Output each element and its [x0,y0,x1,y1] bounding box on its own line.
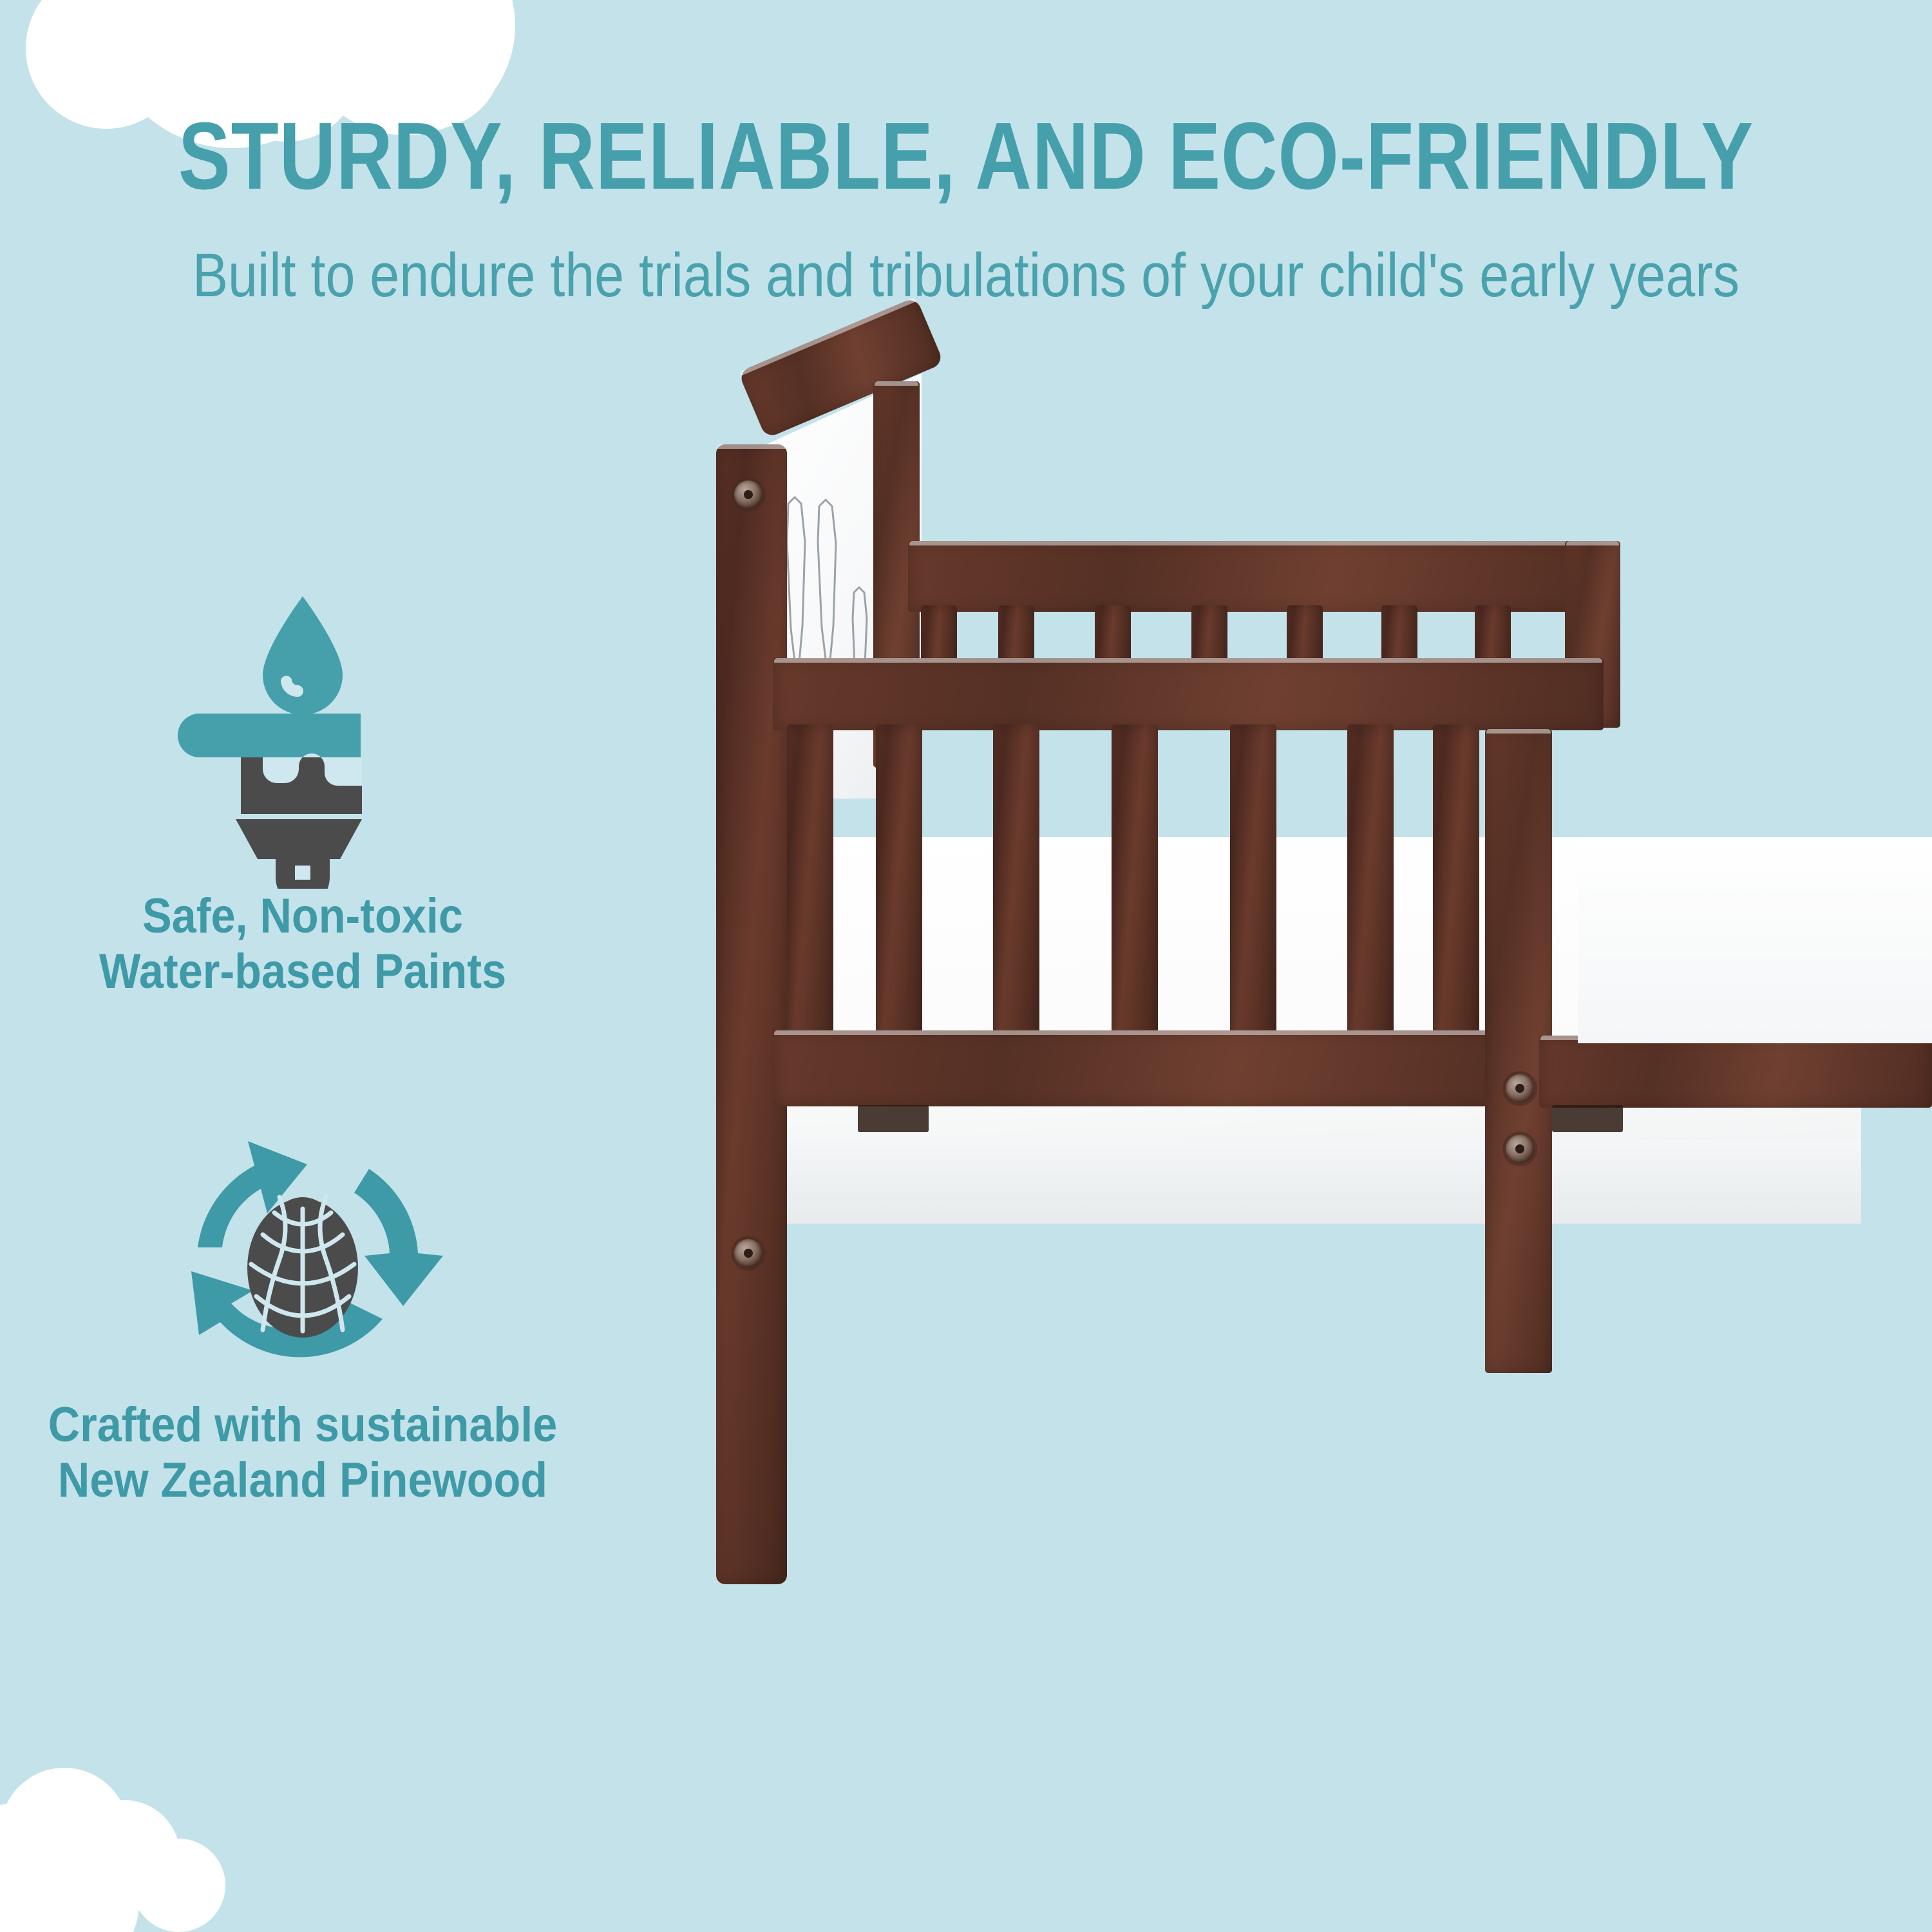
bed-side-rail [1539,1036,1932,1108]
headboard-front-post [716,444,787,1584]
guardrail-front-top-rail [773,658,1604,730]
guardrail-front-slat [993,724,1039,1046]
feature-caption-line-2: Water-based Paints [42,944,563,999]
feature-caption-pinewood: Crafted with sustainable New Zealand Pin… [42,1397,563,1508]
feature-caption-line-1: Crafted with sustainable [42,1397,563,1453]
feature-water-based-paints: Safe, Non-toxic Water-based Paints [13,592,592,999]
bolt-cap-headboard-lower [734,1239,762,1267]
cloud-bottom-left-icon [0,1768,277,1932]
guardrail-front-slat [1230,724,1276,1046]
guardrail-front-slat [876,724,922,1046]
bolt-cap-headboard-upper [734,480,762,509]
product-image-toddler-bed [676,348,1932,1874]
guardrail-front-slat [787,724,833,1046]
guardrail-front-slat [1112,724,1158,1046]
bolt-cap-right-post-upper [1506,1074,1534,1103]
paintbrush-waterdrop-icon [13,592,592,889]
feature-caption-paints: Safe, Non-toxic Water-based Paints [42,889,563,999]
feature-sustainable-pinewood: Crafted with sustainable New Zealand Pin… [13,1121,592,1508]
guardrail-front-bottom-rail [773,1030,1539,1106]
mattress-shadow-band [766,1140,1861,1224]
guardrail-front-slat [1347,724,1394,1046]
guardrail-front-slat [1433,724,1479,1046]
recycle-pinecone-icon [13,1121,592,1397]
feature-caption-line-2: New Zealand Pinewood [42,1453,563,1508]
guardrail-upper-top-board [908,541,1616,612]
page-subheadline: Built to endure the trials and tribulati… [135,240,1797,312]
bolt-cap-right-post-lower [1506,1135,1534,1163]
center-support-block [858,1105,929,1132]
right-support-block [1552,1105,1623,1132]
feature-caption-line-1: Safe, Non-toxic [42,889,563,944]
marketing-banner: STURDY, RELIABLE, AND ECO-FRIENDLY Built… [0,0,1932,1932]
page-headline: STURDY, RELIABLE, AND ECO-FRIENDLY [174,108,1758,205]
mattress-right-section [1578,837,1932,1043]
